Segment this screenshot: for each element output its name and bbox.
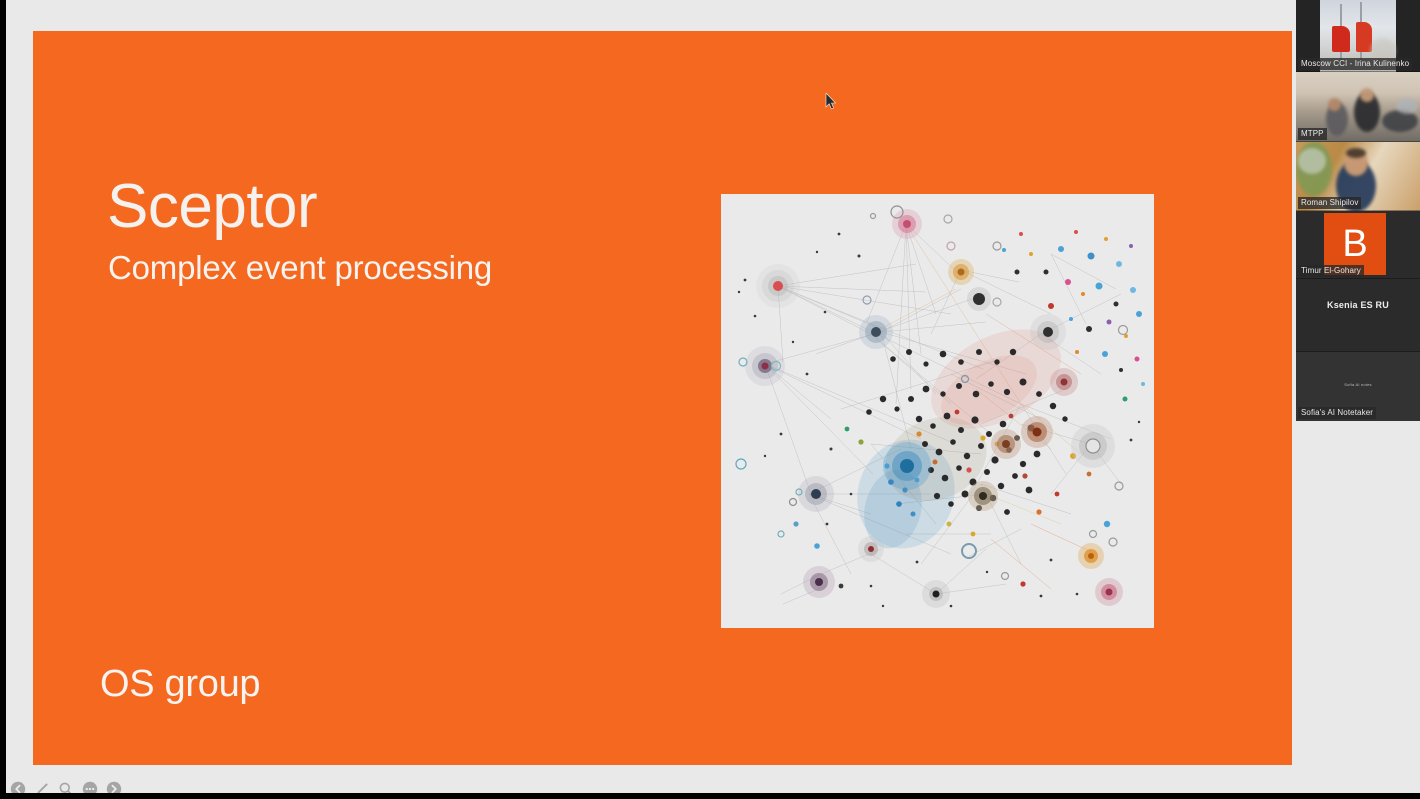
participant-name-label: Moscow CCI - Irina Kulinenko xyxy=(1298,58,1412,70)
participant-tile[interactable]: Sofia AI notes Sofia's AI Notetaker xyxy=(1296,352,1420,421)
slide-footer-text: OS group xyxy=(100,663,260,706)
participant-name-label: Timur El-Gohary xyxy=(1298,265,1364,277)
slide-subtitle: Complex event processing xyxy=(108,249,492,287)
participant-tile[interactable]: Ksenia ES RU xyxy=(1296,279,1420,352)
network-graph-visualization xyxy=(721,194,1154,628)
mouse-pointer xyxy=(825,93,837,111)
screen-left-border xyxy=(0,0,6,799)
participant-name-label: MTPP xyxy=(1298,128,1327,140)
participant-tile[interactable]: MTPP xyxy=(1296,72,1420,142)
presentation-slide[interactable]: Sceptor Complex event processing OS grou… xyxy=(33,31,1292,765)
page-title: Sceptor xyxy=(107,175,317,239)
screen-root: Sceptor Complex event processing OS grou… xyxy=(0,0,1420,799)
notetaker-micro-label: Sofia AI notes xyxy=(1296,382,1420,387)
participant-name-label: Roman Shipilov xyxy=(1298,197,1361,209)
participant-tile[interactable]: Moscow CCI - Irina Kulinenko xyxy=(1296,0,1420,72)
participant-tile[interactable]: Roman Shipilov xyxy=(1296,142,1420,211)
network-graph-svg xyxy=(721,194,1154,628)
participant-video-rail[interactable]: Moscow CCI - Irina Kulinenko MTPP xyxy=(1296,0,1420,421)
participant-name-label: Ksenia ES RU xyxy=(1296,298,1420,333)
participant-tile[interactable]: B Timur El-Gohary xyxy=(1296,211,1420,279)
screen-bottom-border xyxy=(0,793,1420,799)
participant-name-label: Sofia's AI Notetaker xyxy=(1298,407,1376,419)
